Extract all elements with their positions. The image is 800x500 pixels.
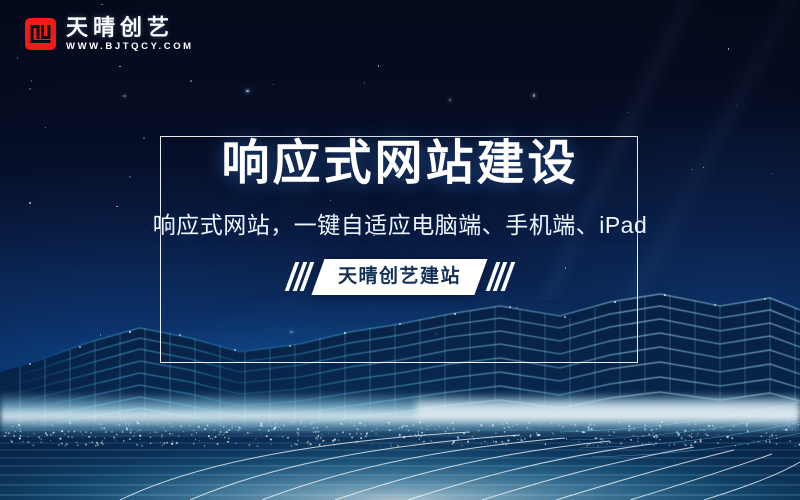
hero-content: 响应式网站建设 响应式网站，一键自适应电脑端、手机端、iPad 天晴创艺建站 bbox=[0, 140, 800, 295]
hero-badge[interactable]: 天晴创艺建站 bbox=[312, 259, 488, 295]
hero-badge-label: 天晴创艺建站 bbox=[338, 264, 461, 290]
tqcy-square-logo-icon bbox=[24, 17, 57, 51]
hero-badge-group[interactable]: 天晴创艺建站 bbox=[0, 259, 800, 295]
triple-slash-icon-left bbox=[290, 262, 309, 291]
brand-name: 天晴创艺 bbox=[66, 17, 194, 39]
brand-logo[interactable]: 天晴创艺 WWW.BJTQCY.COM bbox=[24, 17, 194, 52]
hero-banner: 天晴创艺 WWW.BJTQCY.COM 响应式网站建设 响应式网站，一键自适应电… bbox=[0, 0, 800, 500]
triple-slash-icon-right bbox=[491, 262, 510, 291]
hero-subtitle: 响应式网站，一键自适应电脑端、手机端、iPad bbox=[0, 214, 800, 237]
brand-url: WWW.BJTQCY.COM bbox=[66, 42, 194, 52]
brand-logo-text: 天晴创艺 WWW.BJTQCY.COM bbox=[66, 17, 194, 52]
hero-title: 响应式网站建设 bbox=[0, 140, 800, 188]
